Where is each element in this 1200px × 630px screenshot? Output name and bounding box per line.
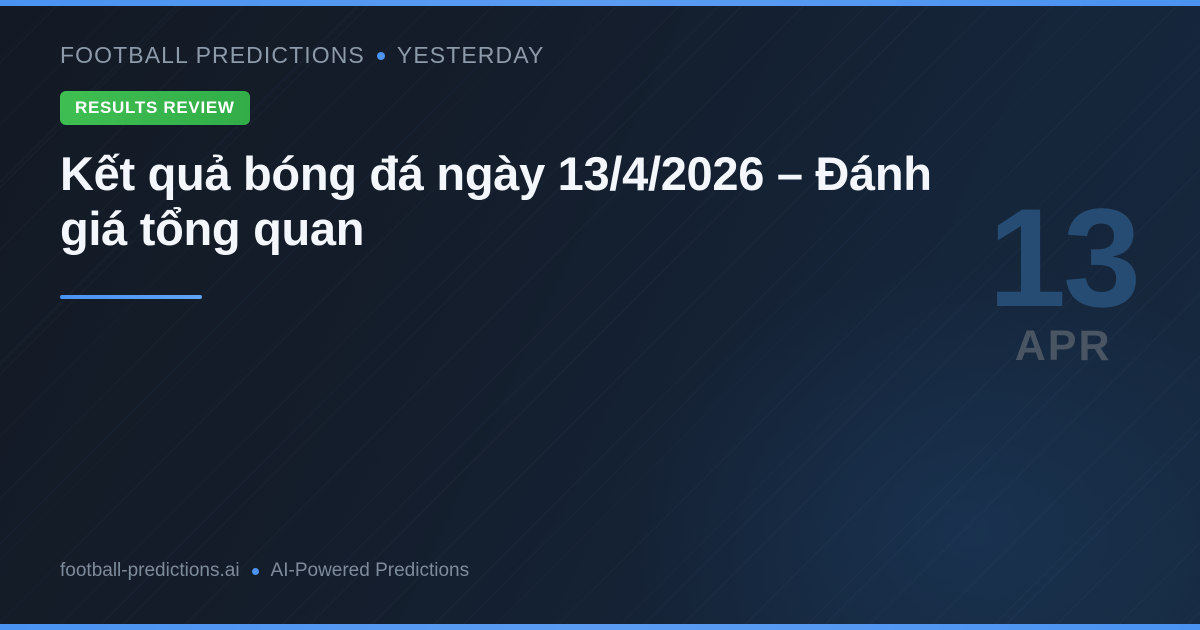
footer-tagline: AI-Powered Predictions: [271, 560, 470, 582]
footer-site: football-predictions.ai: [60, 560, 240, 582]
bottom-accent-bar: [0, 624, 1200, 630]
card-content: FOOTBALL PREDICTIONS YESTERDAY RESULTS R…: [60, 42, 960, 299]
eyebrow-brand: FOOTBALL PREDICTIONS: [60, 42, 365, 69]
footer: football-predictions.ai AI-Powered Predi…: [60, 560, 469, 582]
top-accent-bar: [0, 0, 1200, 6]
footer-bullet-dot-icon: [252, 568, 259, 575]
eyebrow: FOOTBALL PREDICTIONS YESTERDAY: [60, 42, 960, 69]
date-day: 13: [988, 196, 1138, 319]
status-badge: RESULTS REVIEW: [60, 91, 250, 125]
eyebrow-timeframe: YESTERDAY: [397, 42, 545, 69]
bullet-dot-icon: [377, 52, 385, 60]
og-share-card: 13 APR FOOTBALL PREDICTIONS YESTERDAY RE…: [0, 0, 1200, 630]
date-badge: 13 APR: [988, 196, 1138, 368]
title-underline-accent: [60, 295, 202, 299]
page-title: Kết quả bóng đá ngày 13/4/2026 – Đánh gi…: [60, 147, 940, 257]
